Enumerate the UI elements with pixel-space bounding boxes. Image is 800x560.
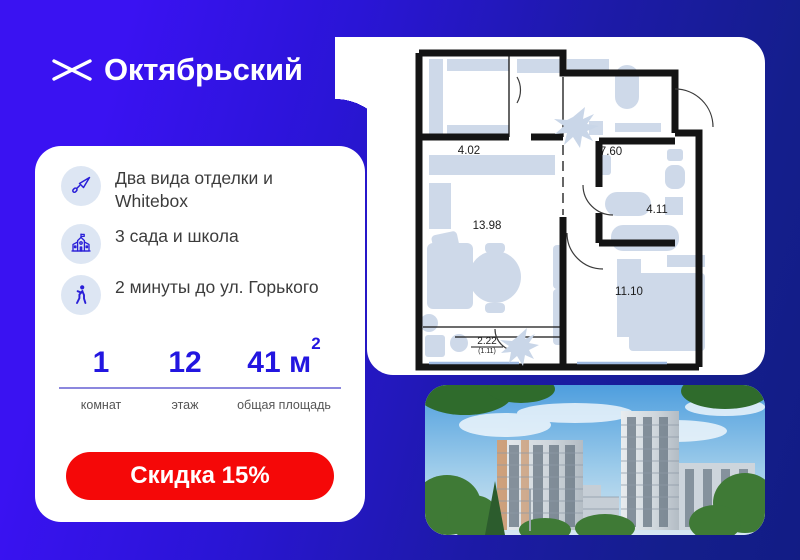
stat-area-number: 41 <box>247 346 280 379</box>
area-label-hall: 7.60 <box>600 146 622 158</box>
brand-name: Октябрьский <box>104 52 303 88</box>
stat-value-floor: 12 <box>143 346 227 380</box>
advertisement-banner: Октябрьский Два вида отделки и Whitebox <box>0 0 800 560</box>
info-card: Два вида отделки и Whitebox <box>35 146 365 522</box>
street-lamp <box>529 489 531 531</box>
stats-values: 1 12 41 м2 <box>59 346 341 387</box>
brand-banner: Октябрьский <box>0 0 368 140</box>
apartment-stats: 1 12 41 м2 комнат этаж общая площадь <box>59 346 341 413</box>
discount-button[interactable]: Скидка 15% <box>66 452 334 500</box>
floorplan-image: 4.02 7.60 4.11 13.98 11.10 2.22 (1.11) <box>367 37 765 375</box>
feature-item: 2 минуты до ул. Горького <box>61 275 339 315</box>
stat-label-floor: этаж <box>143 398 227 413</box>
feature-item: Два вида отделки и Whitebox <box>61 166 339 213</box>
feature-item: 3 сада и школа <box>61 224 339 264</box>
building-photo <box>425 385 765 535</box>
floorplan-card: 4.02 7.60 4.11 13.98 11.10 2.22 (1.11) <box>367 37 765 375</box>
pedestrian-icon <box>61 275 101 315</box>
stat-value-rooms: 1 <box>59 346 143 380</box>
stat-area-unit: м2 <box>289 346 321 379</box>
stat-value-area: 41 м2 <box>227 346 341 380</box>
stats-labels: комнат этаж общая площадь <box>59 389 341 413</box>
feature-list: Два вида отделки и Whitebox <box>35 166 365 326</box>
feature-label: 3 сада и школа <box>115 224 239 248</box>
tower-left <box>497 440 583 530</box>
area-label-bathroom: 4.11 <box>646 204 668 216</box>
area-label-kitchen: 13.98 <box>473 220 502 232</box>
area-label-bedroom: 11.10 <box>615 286 643 298</box>
building-render-image <box>425 385 765 535</box>
area-label-balcony: 2.22 <box>477 336 497 347</box>
school-icon <box>61 224 101 264</box>
stat-label-rooms: комнат <box>59 398 143 413</box>
trowel-icon <box>61 166 101 206</box>
x-mark-icon <box>52 55 92 85</box>
feature-label: Два вида отделки и Whitebox <box>115 166 329 213</box>
stat-label-area: общая площадь <box>227 398 341 413</box>
area-label-wardrobe: 4.02 <box>458 145 480 157</box>
feature-label: 2 минуты до ул. Горького <box>115 275 319 299</box>
area-label-balcony-reduced: (1.11) <box>478 348 496 355</box>
